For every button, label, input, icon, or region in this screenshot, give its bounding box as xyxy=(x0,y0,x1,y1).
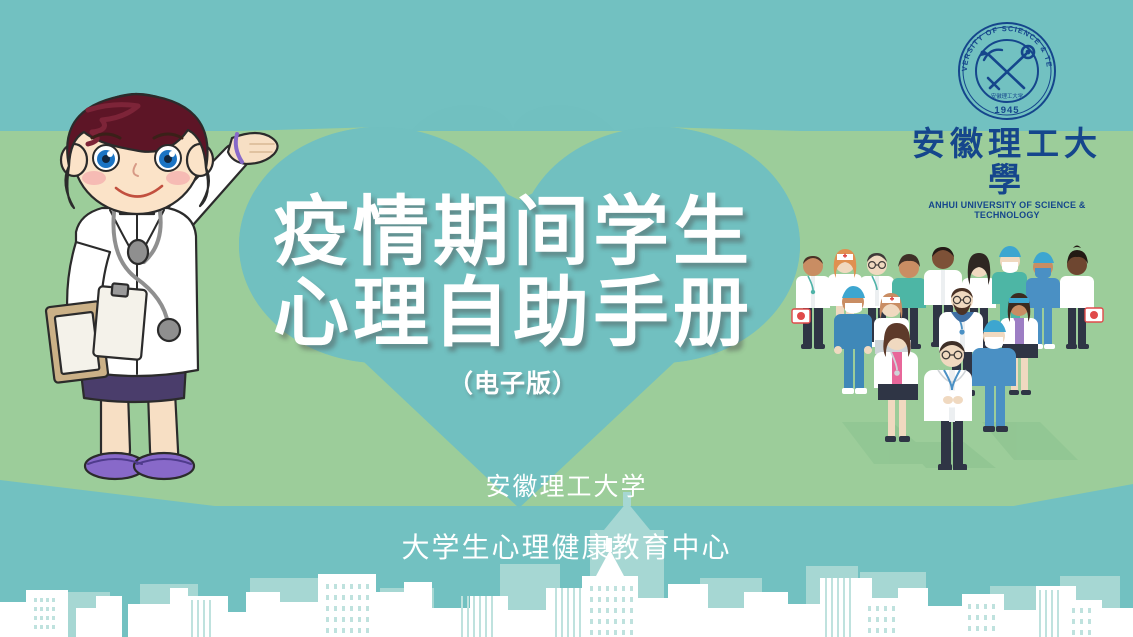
department-name: 大学生心理健康教育中心 xyxy=(0,526,1133,566)
page-title-line-2: 心理自助手册 xyxy=(248,277,778,350)
svg-text:ANHUI UNIVERSITY OF SCIENCE &: ANHUI UNIVERSITY OF SCIENCE & TECHNOLOGY xyxy=(954,18,1054,72)
university-seal-icon: ANHUI UNIVERSITY OF SCIENCE & TECHNOLOGY… xyxy=(954,18,1060,124)
organization-block: 安徽理工大学 大学生心理健康教育中心 xyxy=(0,468,1133,566)
poster-canvas: 疫情期间学生 心理自助手册 （电子版） xyxy=(0,0,1133,637)
seal-year: 1945 xyxy=(994,105,1019,116)
organization-name: 安徽理工大学 xyxy=(0,468,1133,506)
title-block: 疫情期间学生 心理自助手册 （电子版） xyxy=(248,196,778,400)
university-branding: ANHUI UNIVERSITY OF SCIENCE & TECHNOLOGY… xyxy=(897,18,1117,220)
medical-staff-team-illustration xyxy=(782,232,1112,470)
seal-center-text: 安徽理工大学 xyxy=(991,92,1024,100)
page-subtitle: （电子版） xyxy=(248,364,778,400)
university-wordmark-en: ANHUI UNIVERSITY OF SCIENCE & TECHNOLOGY xyxy=(897,200,1117,220)
page-title-line-1: 疫情期间学生 xyxy=(248,196,778,269)
university-wordmark-cn: 安徽理工大學 xyxy=(897,126,1117,199)
seal-ring-text: ANHUI UNIVERSITY OF SCIENCE & TECHNOLOGY xyxy=(954,18,1054,72)
